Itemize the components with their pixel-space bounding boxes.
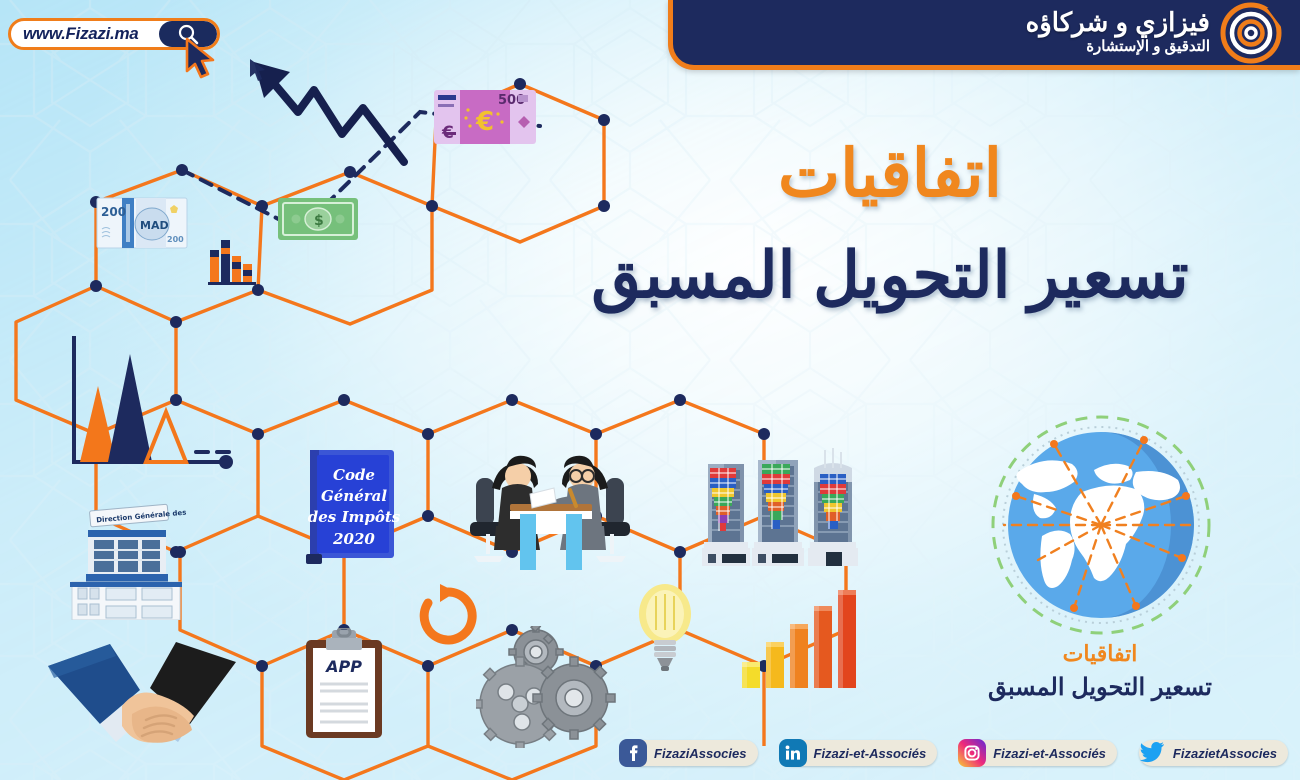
tax-code-book-icon: Code Général des Impôts 2020 bbox=[298, 446, 402, 566]
svg-text:Direction Générale des Impôts: Direction Générale des Impôts bbox=[96, 506, 186, 524]
globe-caption-block: اتفاقيات تسعير التحويل المسبق bbox=[940, 640, 1260, 703]
svg-text:2020: 2020 bbox=[332, 530, 375, 548]
linkedin-badge bbox=[779, 739, 807, 767]
euro-banknote-icon: 500 € € bbox=[432, 86, 538, 148]
company-logo-bar: فيزازي و شركاؤه التدقيق و الإستشارة bbox=[668, 0, 1300, 70]
mad-banknote-icon: 200 MAD 200 bbox=[96, 196, 188, 250]
svg-text:Code: Code bbox=[333, 466, 375, 484]
svg-text:des Impôts: des Impôts bbox=[308, 508, 401, 526]
lightbulb-icon bbox=[634, 582, 696, 674]
svg-text:Général: Général bbox=[321, 487, 387, 505]
facebook-icon bbox=[624, 744, 642, 762]
headline-line-2: تسعير التحويل المسبق bbox=[520, 240, 1260, 310]
svg-text:200: 200 bbox=[101, 205, 126, 219]
svg-text:500: 500 bbox=[498, 93, 525, 108]
instagram-badge bbox=[958, 739, 986, 767]
headline-block: اتفاقيات تسعير التحويل المسبق bbox=[520, 140, 1260, 310]
social-link-instagram[interactable]: Fizazi-et-Associés bbox=[959, 740, 1117, 766]
instagram-handle: Fizazi-et-Associés bbox=[993, 746, 1106, 761]
svg-text:$: $ bbox=[314, 213, 324, 229]
svg-text:APP: APP bbox=[324, 657, 362, 676]
linkedin-icon bbox=[784, 744, 802, 762]
social-links-bar: FizaziAssocies Fizazi-et-Associés Fi bbox=[620, 740, 1288, 766]
search-input[interactable]: www.Fizazi.ma bbox=[11, 24, 159, 44]
logo-title: فيزازي و شركاؤه bbox=[1026, 9, 1210, 36]
triangle-chart bbox=[58, 334, 238, 474]
meeting-people-icon bbox=[462, 444, 638, 584]
app-clipboard-icon: APP bbox=[302, 628, 386, 740]
twitter-icon bbox=[1139, 741, 1165, 765]
skyscrapers-with-flags-icon bbox=[694, 446, 862, 580]
mouse-cursor-icon bbox=[183, 37, 223, 83]
ascending-bar-chart bbox=[738, 584, 864, 690]
tax-office-building-icon: Direction Générale des Impôts bbox=[62, 500, 186, 620]
refresh-cycle-icon bbox=[412, 580, 484, 652]
svg-text:MAD: MAD bbox=[140, 219, 169, 232]
globe-caption-line-2: تسعير التحويل المسبق bbox=[940, 672, 1260, 703]
logo-subtitle: التدقيق و الإستشارة bbox=[1026, 38, 1210, 56]
social-link-facebook[interactable]: FizaziAssocies bbox=[620, 740, 758, 766]
concentric-rings-eye-icon bbox=[1220, 2, 1282, 64]
gears-icon bbox=[476, 626, 620, 748]
globe-caption-line-1: اتفاقيات bbox=[940, 640, 1260, 668]
headline-line-1: اتفاقيات bbox=[520, 140, 1260, 206]
facebook-handle: FizaziAssocies bbox=[654, 746, 747, 761]
mouse-cursor-secondary-icon bbox=[247, 57, 269, 83]
svg-text:€: € bbox=[441, 123, 454, 143]
social-link-linkedin[interactable]: Fizazi-et-Associés bbox=[780, 740, 938, 766]
handshake-icon bbox=[44, 628, 240, 748]
dollar-banknote-icon: $ bbox=[276, 194, 360, 244]
twitter-handle: FizazietAssocies bbox=[1173, 746, 1277, 761]
svg-text:€: € bbox=[475, 107, 494, 137]
facebook-badge bbox=[619, 739, 647, 767]
poster-canvas: 500 € € 200 MAD 200 bbox=[0, 0, 1300, 780]
linkedin-handle: Fizazi-et-Associés bbox=[814, 746, 927, 761]
book-bar-chart bbox=[206, 228, 266, 286]
social-link-twitter[interactable]: FizazietAssocies bbox=[1139, 740, 1288, 766]
logo-text-block: فيزازي و شركاؤه التدقيق و الإستشارة bbox=[1026, 9, 1210, 56]
twitter-badge bbox=[1138, 739, 1166, 767]
hex-network bbox=[0, 0, 900, 780]
svg-text:200: 200 bbox=[167, 235, 184, 244]
world-globe-icon bbox=[986, 410, 1216, 640]
instagram-icon bbox=[963, 744, 981, 762]
